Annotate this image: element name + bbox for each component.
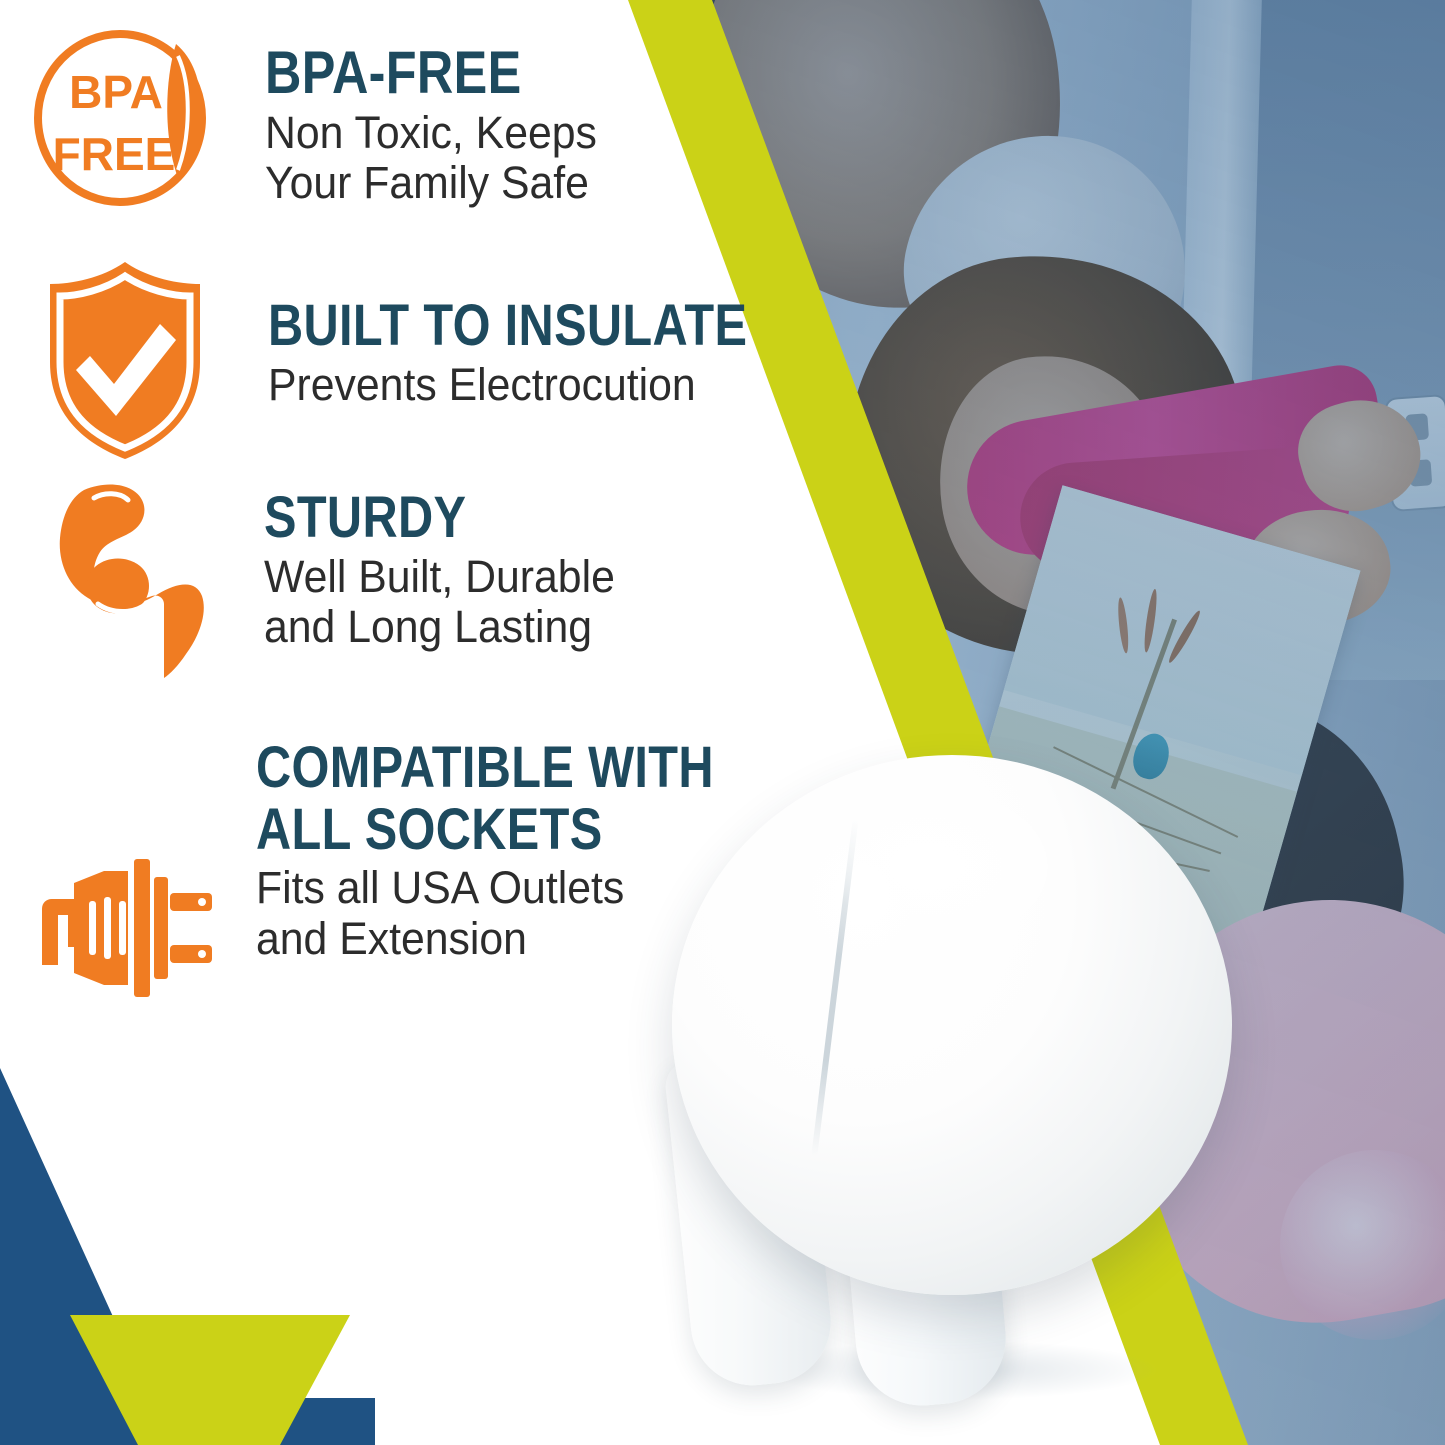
feature-title: ALL SOCKETS <box>256 802 714 858</box>
feature-subtitle-line: and Long Lasting <box>264 602 615 652</box>
product-cap-seam <box>811 818 858 1156</box>
feature-subtitle-line: Well Built, Durable <box>264 552 615 602</box>
product-prong-left <box>663 1049 837 1392</box>
feature-built-to-insulate-text: BUILT TO INSULATE Prevents Electrocution <box>268 298 839 410</box>
shield-check-icon <box>40 258 210 463</box>
bpa-free-badge-icon: BPA FREE <box>28 28 233 208</box>
electric-plug-icon <box>34 808 214 1048</box>
feature-sturdy-text: STURDY Well Built, Durable and Long Last… <box>264 490 633 652</box>
flexed-bicep-icon <box>38 478 208 678</box>
infographic-canvas: BPA FREE BPA-FREE Non Toxic, Keeps Your … <box>0 0 1445 1445</box>
feature-list: BPA FREE BPA-FREE Non Toxic, Keeps Your … <box>0 0 760 1060</box>
feature-compatible-with-all-sockets: COMPATIBLE WITH ALL SOCKETS Fits all USA… <box>34 740 801 1048</box>
feature-title: BUILT TO INSULATE <box>268 298 747 354</box>
product-shadow <box>760 1340 1160 1400</box>
feature-subtitle-line: Your Family Safe <box>265 158 597 208</box>
feature-subtitle-line: Prevents Electrocution <box>268 360 810 410</box>
feature-bpa-free-text: BPA-FREE Non Toxic, Keeps Your Family Sa… <box>265 44 614 208</box>
badge-line-1: BPA <box>69 66 163 118</box>
badge-line-2: FREE <box>53 128 176 180</box>
feature-subtitle-line: and Extension <box>256 914 774 964</box>
feature-compatible-text: COMPATIBLE WITH ALL SOCKETS Fits all USA… <box>256 740 801 964</box>
feature-sturdy: STURDY Well Built, Durable and Long Last… <box>38 478 633 678</box>
feature-built-to-insulate: BUILT TO INSULATE Prevents Electrocution <box>40 258 839 463</box>
feature-title: BPA-FREE <box>265 44 558 102</box>
feature-title: COMPATIBLE WITH <box>256 740 714 796</box>
product-prong-right <box>835 1089 1011 1411</box>
feature-subtitle-line: Non Toxic, Keeps <box>265 108 597 158</box>
feature-title: STURDY <box>264 490 574 546</box>
feature-subtitle-line: Fits all USA Outlets <box>256 863 774 913</box>
feature-bpa-free: BPA FREE BPA-FREE Non Toxic, Keeps Your … <box>28 28 614 208</box>
